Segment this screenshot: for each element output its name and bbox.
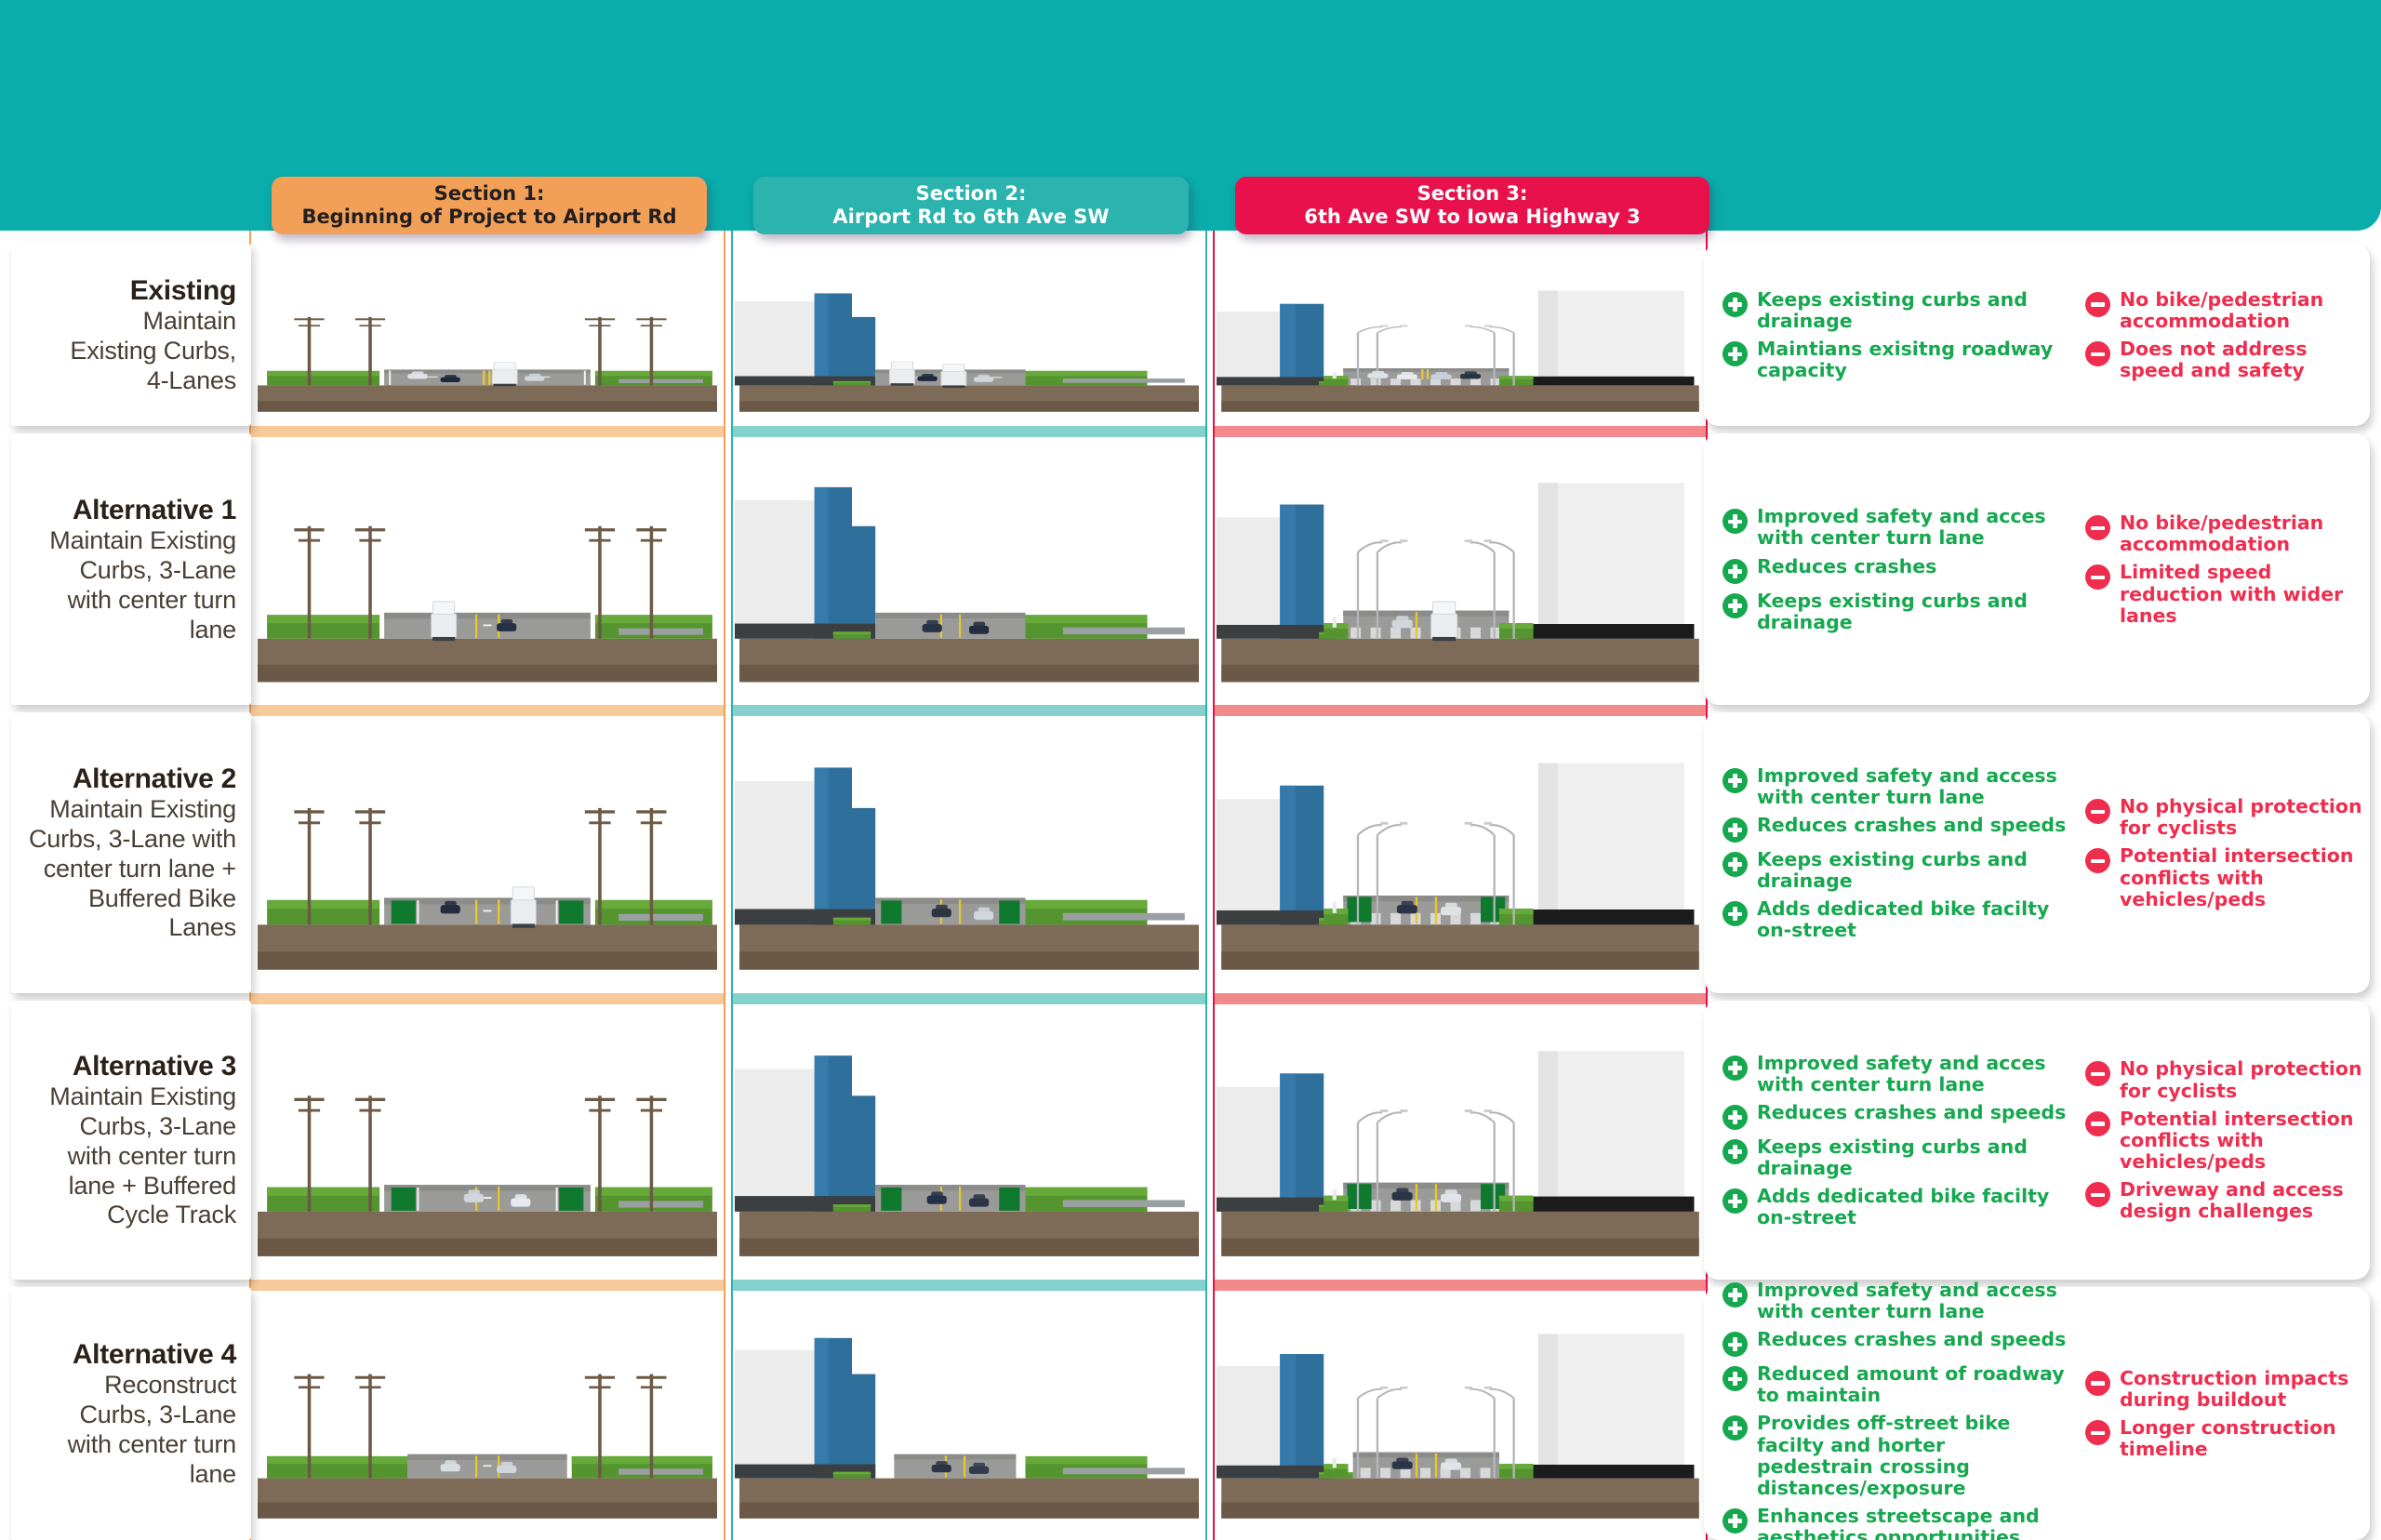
con-item: Construction impacts during buildout [2085, 1368, 2364, 1411]
pro-item: Improved safety and acces with center tu… [1723, 1053, 2067, 1095]
pro-item: Improved safety and acces with center tu… [1723, 506, 2067, 549]
con-item: Limited speed reduction with wider lanes [2085, 562, 2364, 626]
band-fill [249, 1280, 725, 1291]
con-text: No bike/pedestrian accommodation [2120, 512, 2364, 555]
option-description-line: with center turn [68, 1430, 236, 1460]
tab-subtitle: 6th Ave SW to Iowa Highway 3 [1304, 206, 1640, 229]
minus-icon [2085, 1371, 2110, 1396]
pros-list-alternative-2: Improved safety and access with center t… [1723, 765, 2067, 949]
pro-item: Keeps existing curbs and drainage [1723, 289, 2067, 332]
pros-cons-alternative-1: Improved safety and acces with center tu… [1723, 448, 2364, 697]
plus-icon [1723, 768, 1748, 793]
plus-icon [1723, 593, 1748, 618]
pros-cons-alternative-3: Improved safety and acces with center tu… [1723, 1016, 2364, 1272]
minus-icon [2085, 292, 2110, 317]
option-description-line: lane [190, 1460, 236, 1490]
con-item: No physical protection for cyclists [2085, 796, 2364, 839]
pro-item: Reduced amount of roadway to maintain [1723, 1363, 2067, 1406]
tab-subtitle: Beginning of Project to Airport Rd [301, 206, 676, 229]
option-label-alternative-1: Alternative 1Maintain ExistingCurbs, 3-L… [11, 433, 251, 705]
pro-item: Keeps existing curbs and drainage [1723, 591, 2067, 633]
plus-icon [1723, 817, 1748, 843]
plus-icon [1723, 509, 1748, 534]
band-fill [731, 426, 1207, 437]
option-description-line: Reconstruct [104, 1371, 236, 1401]
option-title: Alternative 1 [73, 494, 236, 526]
con-text: Potential intersection conflicts with ve… [2120, 1109, 2364, 1173]
street-render-alternative-1-section-1 [253, 448, 722, 699]
pro-item: Reduces crashes and speeds [1723, 1329, 2067, 1357]
option-description-line: with center turn [68, 586, 236, 616]
option-label-existing: ExistingMaintainExisting Curbs,4-Lanes [11, 244, 251, 426]
pro-text: Reduces crashes and speeds [1757, 1329, 2066, 1350]
con-item: Longer construction timeline [2085, 1417, 2364, 1460]
street-render-alternative-1-section-2 [735, 448, 1204, 699]
street-render-existing-section-3 [1217, 270, 1704, 422]
cons-list-alternative-3: No physical protection for cyclistsPoten… [2085, 1058, 2364, 1228]
street-render-alternative-2-section-3 [1217, 727, 1704, 988]
option-description-line: lane + Buffered [69, 1172, 236, 1201]
con-item: Driveway and access design challenges [2085, 1179, 2364, 1222]
con-text: Potential intersection conflicts with ve… [2120, 845, 2364, 909]
tab-subtitle: Airport Rd to 6th Ave SW [832, 206, 1109, 229]
option-description-line: Maintain Existing [49, 795, 236, 825]
street-render-alternative-2-section-1 [253, 727, 722, 988]
pro-item: Improved safety and access with center t… [1723, 1280, 2067, 1322]
band-fill [731, 705, 1207, 716]
pro-text: Improved safety and access with center t… [1757, 765, 2067, 808]
option-description-line: Curbs, 3-Lane with [29, 825, 236, 855]
con-text: No bike/pedestrian accommodation [2120, 289, 2364, 332]
pro-text: Adds dedicated bike facilty on-street [1757, 1186, 2067, 1228]
band-fill [731, 993, 1207, 1004]
con-text: No physical protection for cyclists [2120, 796, 2364, 839]
band-fill [1213, 1280, 1708, 1291]
minus-icon [2085, 848, 2110, 873]
street-render-existing-section-1 [253, 270, 722, 422]
con-text: Does not address speed and safety [2120, 339, 2364, 381]
con-text: Limited speed reduction with wider lanes [2120, 562, 2364, 626]
band-fill [249, 705, 725, 716]
plus-icon [1723, 901, 1748, 926]
pro-text: Reduces crashes and speeds [1757, 815, 2066, 836]
option-description-line: 4-Lanes [147, 366, 236, 396]
option-title: Alternative 2 [73, 763, 236, 795]
pro-text: Improved safety and access with center t… [1757, 1280, 2067, 1322]
option-title: Existing [130, 274, 236, 307]
street-render-alternative-4-section-2 [735, 1302, 1204, 1534]
street-render-alternative-4-section-3 [1217, 1302, 1704, 1534]
option-label-alternative-4: Alternative 4ReconstructCurbs, 3-Lanewit… [11, 1287, 251, 1540]
option-description-line: Lanes [168, 913, 236, 943]
pro-text: Reduces crashes and speeds [1757, 1102, 2066, 1123]
option-description-line: Curbs, 3-Lane [80, 1112, 237, 1142]
con-text: Driveway and access design challenges [2120, 1179, 2364, 1222]
minus-icon [2085, 1111, 2110, 1136]
pro-item: Provides off-street bike facilty and hor… [1723, 1413, 2067, 1499]
option-description-line: lane [190, 616, 236, 645]
pro-item: Reduces crashes [1723, 556, 2067, 584]
tab-title: Section 2: [916, 182, 1027, 206]
tab-section-3[interactable]: Section 3:6th Ave SW to Iowa Highway 3 [1235, 177, 1709, 234]
minus-icon [2085, 564, 2110, 590]
plus-icon [1723, 292, 1748, 317]
minus-icon [2085, 1420, 2110, 1445]
band-fill [731, 1280, 1207, 1291]
option-title: Alternative 4 [73, 1338, 236, 1371]
tab-section-2[interactable]: Section 2:Airport Rd to 6th Ave SW [753, 177, 1189, 234]
column-divider-right [724, 231, 725, 1540]
street-render-alternative-3-section-2 [735, 1016, 1204, 1274]
cons-list-alternative-1: No bike/pedestrian accommodationLimited … [2085, 512, 2364, 633]
plus-icon [1723, 1105, 1748, 1130]
pros-cons-existing: Keeps existing curbs and drainageMaintia… [1723, 259, 2364, 418]
option-label-alternative-2: Alternative 2Maintain ExistingCurbs, 3-L… [11, 712, 251, 993]
cons-list-existing: No bike/pedestrian accommodationDoes not… [2085, 289, 2364, 389]
tab-title: Section 1: [434, 182, 545, 206]
pro-text: Keeps existing curbs and drainage [1757, 1136, 2067, 1179]
pro-text: Keeps existing curbs and drainage [1757, 849, 2067, 892]
plus-icon [1723, 341, 1748, 366]
pro-item: Keeps existing curbs and drainage [1723, 849, 2067, 892]
con-text: Longer construction timeline [2120, 1417, 2364, 1460]
pros-list-alternative-3: Improved safety and acces with center tu… [1723, 1053, 2067, 1236]
pros-list-alternative-1: Improved safety and acces with center tu… [1723, 506, 2067, 640]
con-item: No bike/pedestrian accommodation [2085, 512, 2364, 555]
option-description-line: Existing Curbs, [70, 337, 236, 366]
option-description-line: Curbs, 3-Lane [80, 1401, 237, 1430]
pro-text: Maintians exisitng roadway capacity [1757, 339, 2067, 381]
pro-text: Adds dedicated bike facilty on-street [1757, 898, 2067, 941]
con-item: No bike/pedestrian accommodation [2085, 289, 2364, 332]
street-render-alternative-2-section-2 [735, 727, 1204, 988]
option-title: Alternative 3 [73, 1050, 236, 1082]
band-fill [1213, 426, 1708, 437]
con-item: Potential intersection conflicts with ve… [2085, 1109, 2364, 1173]
tab-section-1[interactable]: Section 1:Beginning of Project to Airpor… [272, 177, 707, 234]
plus-icon [1723, 1055, 1748, 1081]
option-description-line: with center turn [68, 1142, 236, 1172]
pro-item: Enhances streetscape and aesthetics oppo… [1723, 1506, 2067, 1540]
plus-icon [1723, 1366, 1748, 1391]
street-render-alternative-1-section-3 [1217, 448, 1704, 699]
pros-cons-alternative-4: Improved safety and access with center t… [1723, 1302, 2364, 1533]
pro-item: Keeps existing curbs and drainage [1723, 1136, 2067, 1179]
pro-text: Provides off-street bike facilty and hor… [1757, 1413, 2067, 1499]
pro-item: Reduces crashes and speeds [1723, 815, 2067, 843]
pros-list-existing: Keeps existing curbs and drainageMaintia… [1723, 289, 2067, 389]
pro-item: Reduces crashes and speeds [1723, 1102, 2067, 1130]
tab-title: Section 3: [1417, 182, 1528, 206]
pro-item: Adds dedicated bike facilty on-street [1723, 898, 2067, 941]
plus-icon [1723, 1282, 1748, 1308]
minus-icon [2085, 1182, 2110, 1207]
pro-text: Improved safety and acces with center tu… [1757, 506, 2067, 549]
option-description-line: center turn lane + [44, 855, 236, 884]
pro-text: Reduces crashes [1757, 556, 1936, 577]
street-render-alternative-4-section-1 [253, 1302, 722, 1534]
band-fill [249, 993, 725, 1004]
plus-icon [1723, 1139, 1748, 1164]
pro-text: Improved safety and acces with center tu… [1757, 1053, 2067, 1095]
option-description-line: Maintain Existing [49, 1082, 236, 1112]
band-fill [249, 426, 725, 437]
pros-cons-alternative-2: Improved safety and access with center t… [1723, 727, 2364, 986]
infographic-page: Street layout options We evaluated diffe… [0, 0, 2381, 1540]
plus-icon [1723, 1508, 1748, 1533]
street-render-alternative-3-section-1 [253, 1016, 722, 1274]
minus-icon [2085, 515, 2110, 540]
pro-text: Reduced amount of roadway to maintain [1757, 1363, 2067, 1406]
option-description-line: Maintain [143, 307, 236, 337]
plus-icon [1723, 1188, 1748, 1214]
street-render-alternative-3-section-3 [1217, 1016, 1704, 1274]
option-label-alternative-3: Alternative 3Maintain ExistingCurbs, 3-L… [11, 1001, 251, 1280]
plus-icon [1723, 559, 1748, 584]
plus-icon [1723, 852, 1748, 877]
band-fill [1213, 993, 1708, 1004]
minus-icon [2085, 1061, 2110, 1086]
cons-list-alternative-2: No physical protection for cyclistsPoten… [2085, 796, 2364, 917]
pro-item: Adds dedicated bike facilty on-street [1723, 1186, 2067, 1228]
con-text: Construction impacts during buildout [2120, 1368, 2364, 1411]
band-fill [1213, 705, 1708, 716]
column-divider-right [1205, 231, 1207, 1540]
street-render-existing-section-2 [735, 270, 1204, 422]
option-description-line: Cycle Track [107, 1201, 236, 1230]
pro-item: Maintians exisitng roadway capacity [1723, 339, 2067, 381]
option-description-line: Buffered Bike [88, 884, 236, 914]
column-divider-left [731, 231, 733, 1540]
cons-list-alternative-4: Construction impacts during buildoutLong… [2085, 1368, 2364, 1467]
option-description-line: Maintain Existing [49, 526, 236, 556]
con-item: Potential intersection conflicts with ve… [2085, 845, 2364, 909]
plus-icon [1723, 1332, 1748, 1357]
pro-text: Keeps existing curbs and drainage [1757, 289, 2067, 332]
minus-icon [2085, 341, 2110, 366]
minus-icon [2085, 799, 2110, 824]
pro-text: Keeps existing curbs and drainage [1757, 591, 2067, 633]
con-item: Does not address speed and safety [2085, 339, 2364, 381]
column-divider-left [1213, 231, 1215, 1540]
con-text: No physical protection for cyclists [2120, 1058, 2364, 1101]
con-item: No physical protection for cyclists [2085, 1058, 2364, 1101]
option-description-line: Curbs, 3-Lane [80, 556, 237, 586]
pros-list-alternative-4: Improved safety and access with center t… [1723, 1280, 2067, 1540]
pro-text: Enhances streetscape and aesthetics oppo… [1757, 1506, 2067, 1540]
pro-item: Improved safety and access with center t… [1723, 765, 2067, 808]
plus-icon [1723, 1415, 1748, 1440]
